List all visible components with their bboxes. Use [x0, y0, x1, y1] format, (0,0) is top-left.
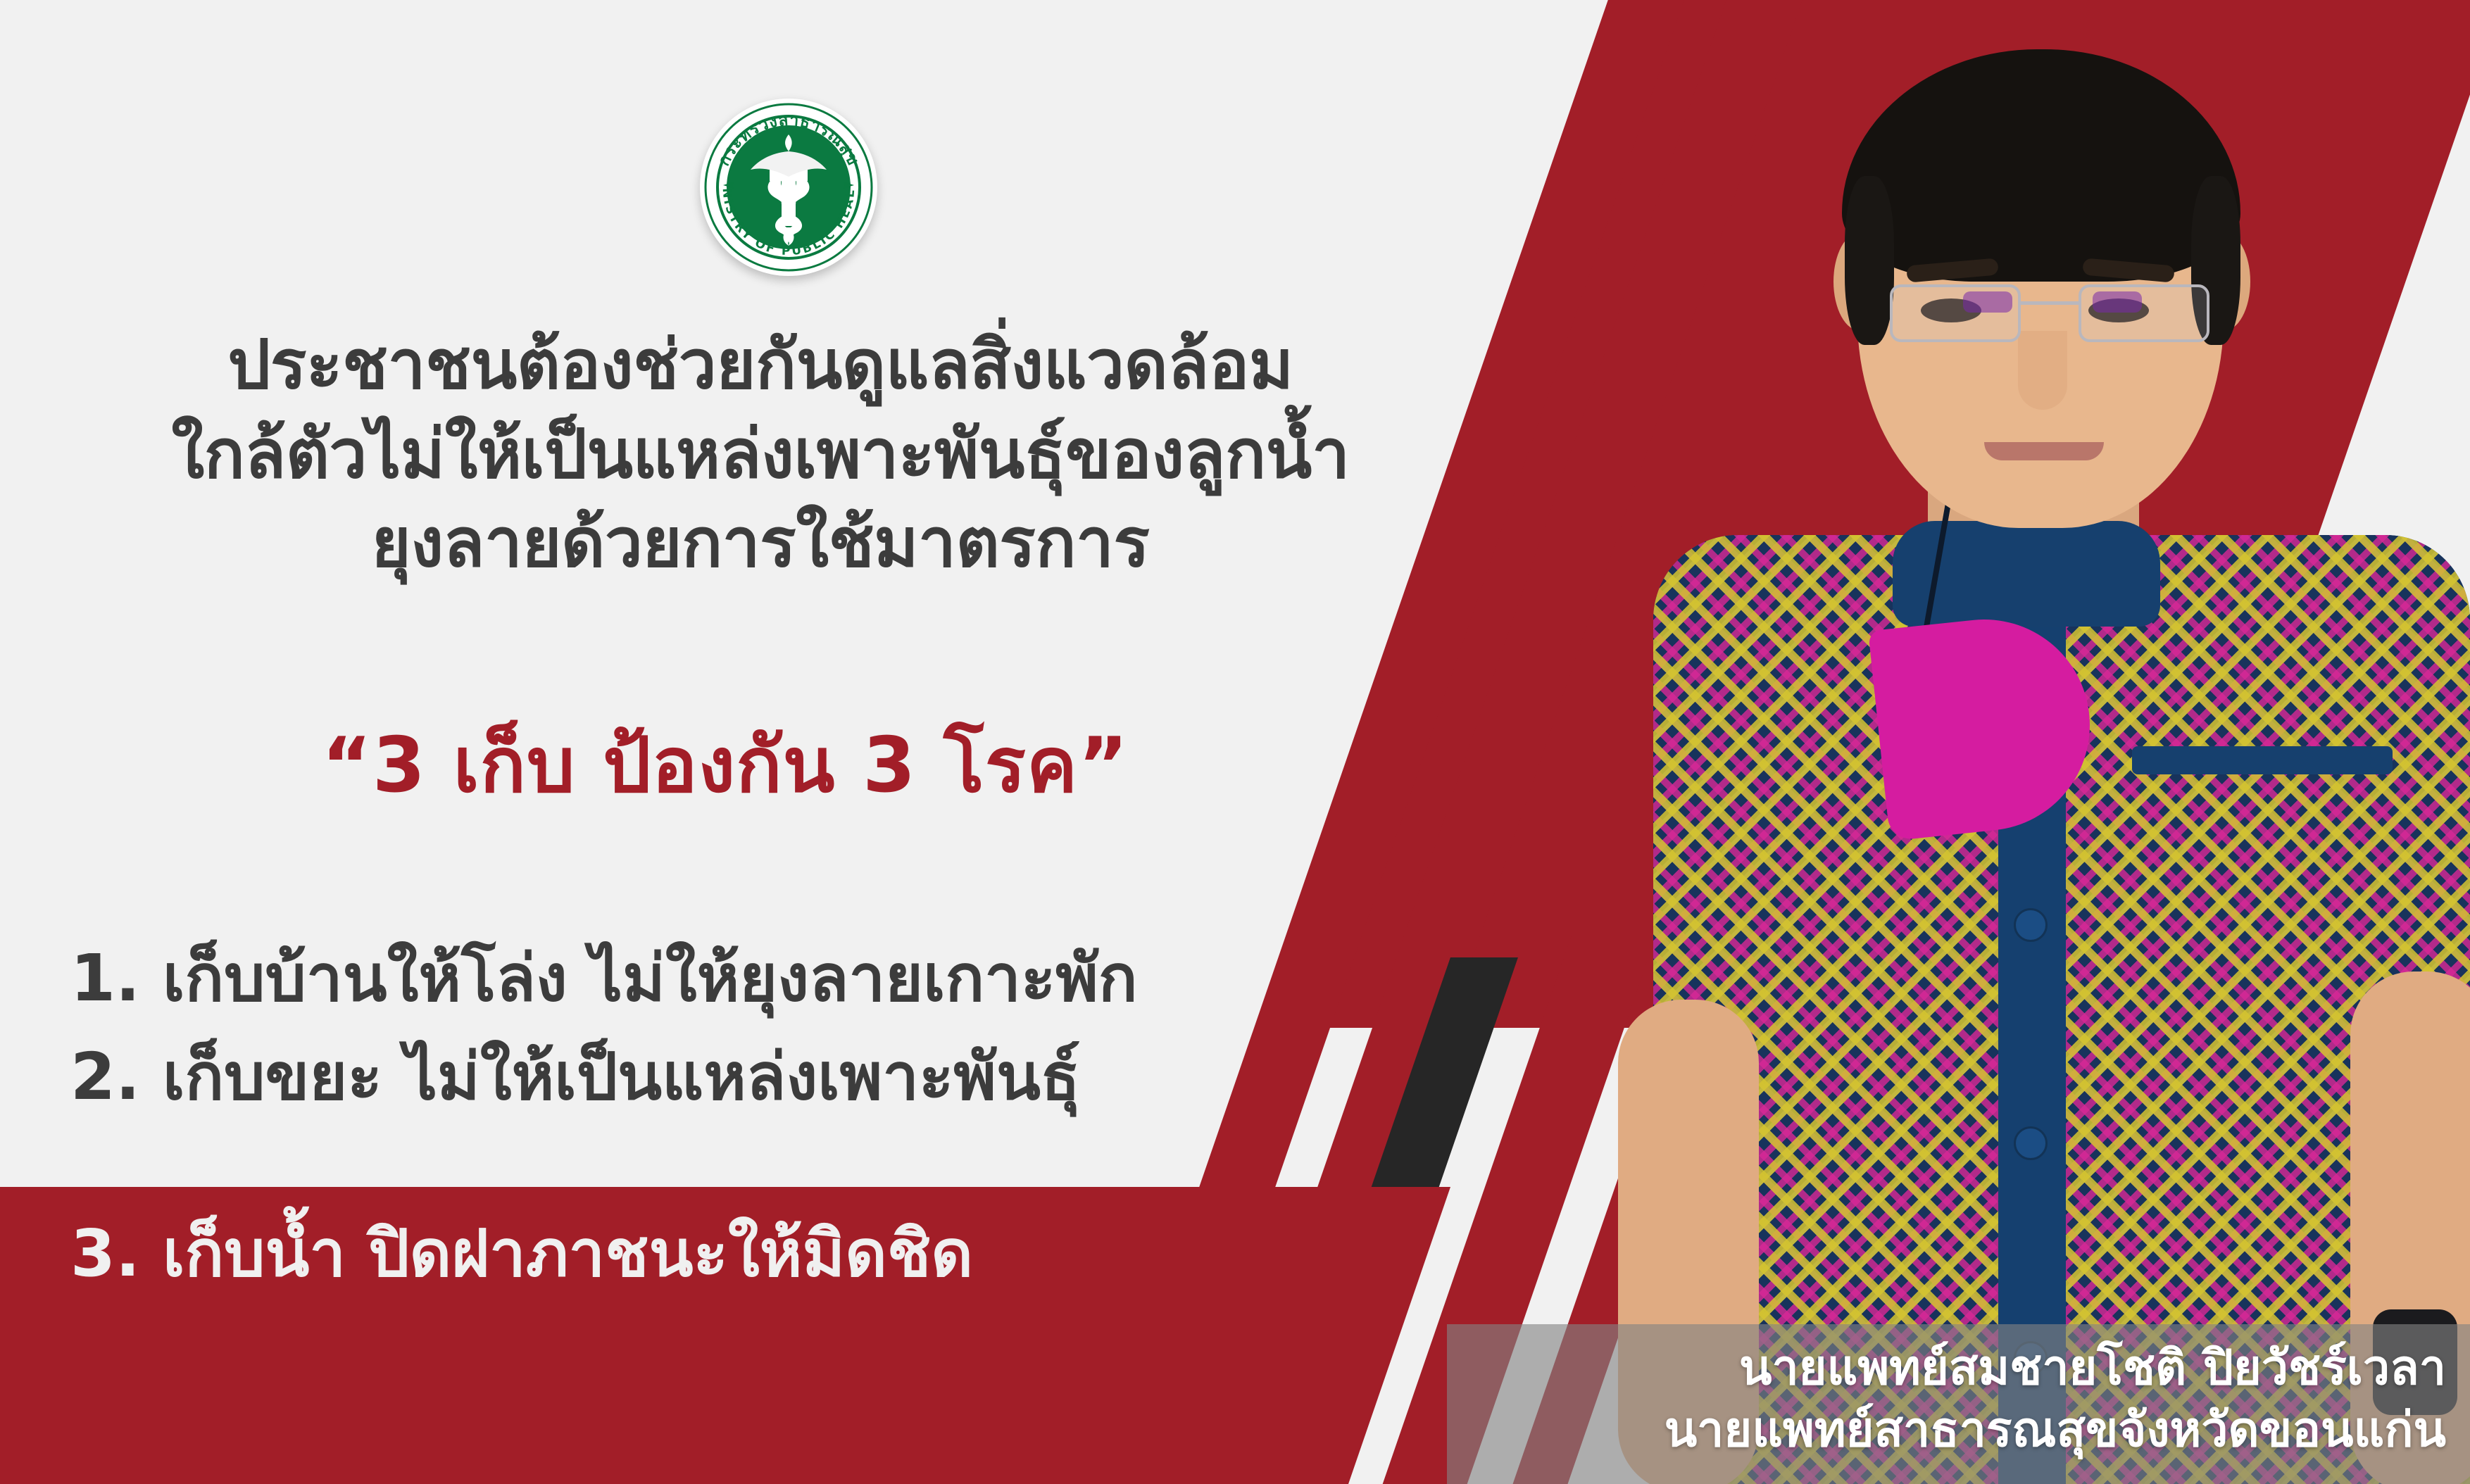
headline-line-2: ใกล้ตัวไม่ให้เป็นแหล่งเพาะพันธุ์ของลูกน้… — [0, 410, 1521, 499]
speaker-caption: นายแพทย์สมชายโชติ ปิยวัชร์เวลา นายแพทย์ส… — [1447, 1324, 2470, 1484]
shirt-button — [2014, 1126, 2048, 1160]
measure-item-1: 1. เก็บบ้านให้โล่ง ไม่ให้ยุงลายเกาะพัก — [70, 929, 1514, 1028]
hair — [1842, 49, 2240, 282]
mouth — [1984, 442, 2104, 460]
ministry-of-public-health-seal-icon: กระทรวงสาธารณสุข MINISTRY OF PUBLIC HEAL… — [702, 101, 875, 274]
hair-side-left — [1845, 176, 1894, 345]
lens-purple-tint-right — [2093, 291, 2142, 313]
lens-purple-tint-left — [1963, 291, 2012, 313]
shirt-button — [2014, 908, 2048, 942]
measures-list: 1. เก็บบ้านให้โล่ง ไม่ให้ยุงลายเกาะพัก 2… — [70, 929, 1514, 1126]
glasses-icon — [1890, 284, 2214, 345]
measure-item-2: 2. เก็บขยะ ไม่ให้เป็นแหล่งเพาะพันธุ์ — [70, 1028, 1514, 1126]
headline-line-1: ประชาชนต้องช่วยกันดูแลสิ่งแวดล้อม — [0, 320, 1521, 410]
headline-line-3: ยุงลายด้วยการใช้มาตรการ — [0, 498, 1521, 588]
speaker-title: นายแพทย์สาธารณสุขจังหวัดขอนแก่น — [1665, 1400, 2446, 1461]
measure-item-3: 3. เก็บน้ำ ปิดฝาภาชนะให้มิดชิด — [70, 1201, 973, 1304]
shirt-pocket — [2132, 746, 2393, 774]
poster-root: กระทรวงสาธารณสุข MINISTRY OF PUBLIC HEAL… — [0, 0, 2470, 1484]
speaker-name: นายแพทย์สมชายโชติ ปิยวัชร์เวลา — [1739, 1338, 2446, 1399]
headline-paragraph: ประชาชนต้องช่วยกันดูแลสิ่งแวดล้อม ใกล้ตั… — [0, 320, 1521, 588]
portrait-photo — [1442, 0, 2470, 1484]
ministry-logo: กระทรวงสาธารณสุข MINISTRY OF PUBLIC HEAL… — [700, 99, 877, 276]
glasses-bridge — [2021, 301, 2079, 305]
slogan-text: “3 เก็บ ป้องกัน 3 โรค” — [0, 704, 1450, 825]
